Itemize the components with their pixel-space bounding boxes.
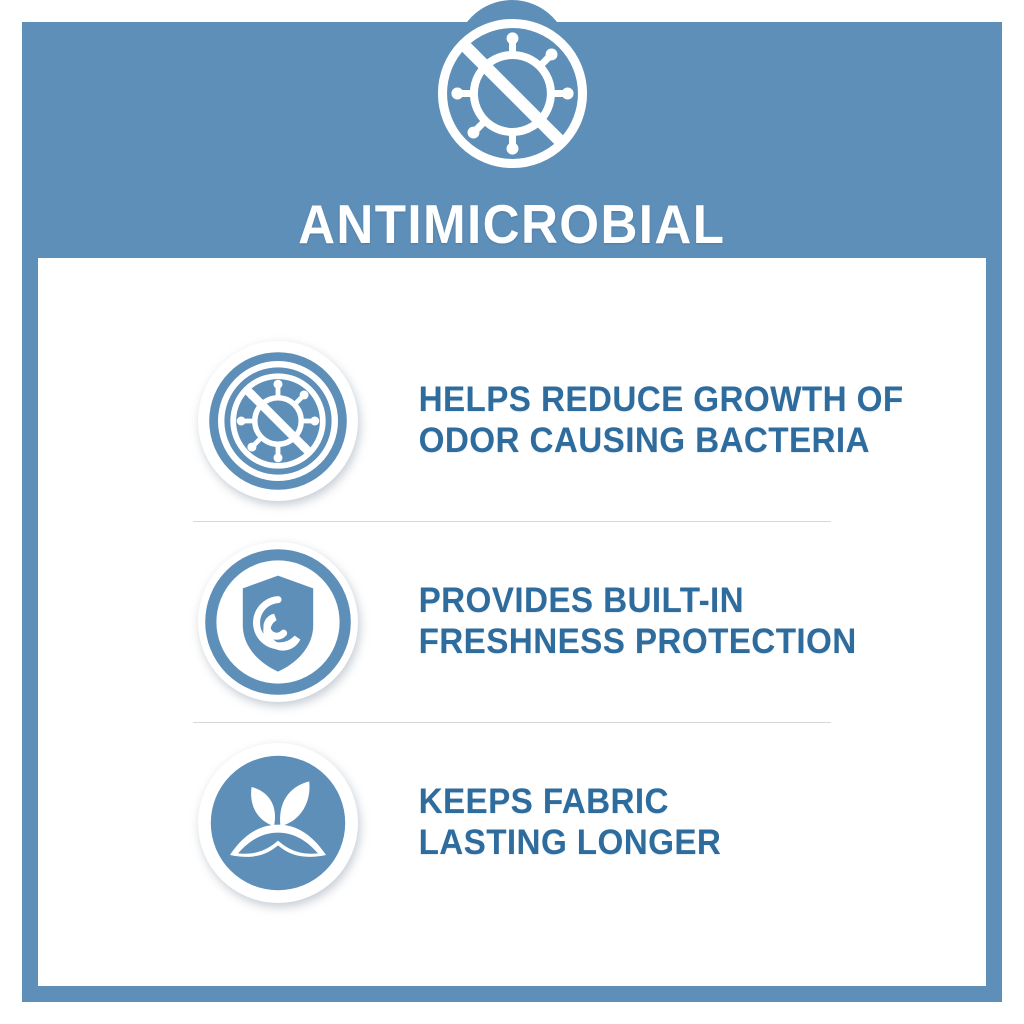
- feature-text: HELPS REDUCE GROWTH OF ODOR CAUSING BACT…: [373, 380, 955, 461]
- shield-freshness-icon: [198, 542, 358, 702]
- no-virus-icon: [198, 341, 358, 501]
- feature-row: HELPS REDUCE GROWTH OF ODOR CAUSING BACT…: [38, 321, 986, 521]
- feature-line-2: ODOR CAUSING BACTERIA: [419, 421, 956, 462]
- sprout-leaves-icon: [198, 743, 358, 903]
- feature-line-2: FRESHNESS PROTECTION: [419, 622, 956, 663]
- feature-line-1: KEEPS FABRIC: [419, 782, 956, 823]
- page-title: ANTIMICROBIAL: [298, 192, 725, 256]
- feature-row: PROVIDES BUILT-IN FRESHNESS PROTECTION: [38, 522, 986, 722]
- header: ANTIMICROBIAL: [22, 22, 1002, 258]
- no-virus-icon: [425, 6, 600, 186]
- feature-icon-cell: [198, 743, 373, 903]
- feature-row: KEEPS FABRIC LASTING LONGER: [38, 723, 986, 923]
- feature-text: PROVIDES BUILT-IN FRESHNESS PROTECTION: [373, 581, 955, 662]
- feature-icon-cell: [198, 341, 373, 501]
- feature-icon-cell: [198, 542, 373, 702]
- infographic-card: ANTIMICROBIAL: [0, 0, 1024, 1024]
- feature-text: KEEPS FABRIC LASTING LONGER: [373, 782, 955, 863]
- features-panel: HELPS REDUCE GROWTH OF ODOR CAUSING BACT…: [38, 258, 986, 986]
- feature-line-1: HELPS REDUCE GROWTH OF: [419, 380, 956, 421]
- feature-line-1: PROVIDES BUILT-IN: [419, 581, 956, 622]
- feature-line-2: LASTING LONGER: [419, 823, 956, 864]
